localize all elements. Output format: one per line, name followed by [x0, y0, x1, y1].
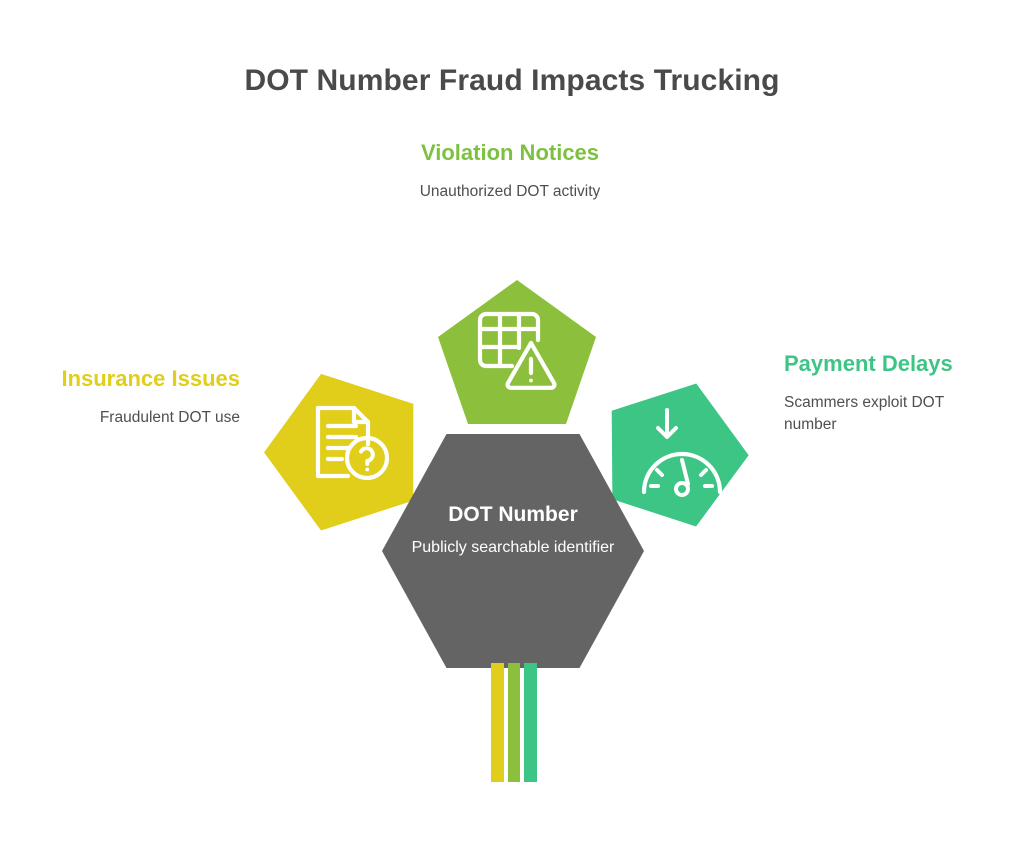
stripe-teal [524, 663, 537, 782]
label-description-insurance-issues: Fraudulent DOT use [38, 407, 240, 429]
label-heading-payment-delays: Payment Delays [784, 349, 994, 379]
label-payment-delays: Payment Delays Scammers exploit DOT numb… [784, 349, 994, 436]
label-description-payment-delays: Scammers exploit DOT number [784, 392, 994, 436]
label-heading-violation-notices: Violation Notices [392, 138, 628, 168]
label-description-violation-notices: Unauthorized DOT activity [392, 181, 628, 203]
center-node-dot-number[interactable]: DOT Number Publicly searchable identifie… [380, 432, 646, 670]
stripe-green [508, 663, 521, 782]
hexagon-shape-center [382, 434, 644, 668]
label-violation-notices: Violation Notices Unauthorized DOT activ… [392, 138, 628, 203]
label-heading-insurance-issues: Insurance Issues [38, 364, 240, 394]
pentagon-violation-notices[interactable] [434, 276, 600, 428]
label-insurance-issues: Insurance Issues Fraudulent DOT use [38, 364, 240, 429]
infographic-canvas: DOT Number Fraud Impacts Trucking [0, 0, 1024, 844]
pentagon-shape-violation [438, 280, 596, 424]
stripe-yellow [491, 663, 504, 782]
accent-stripes [491, 663, 537, 782]
